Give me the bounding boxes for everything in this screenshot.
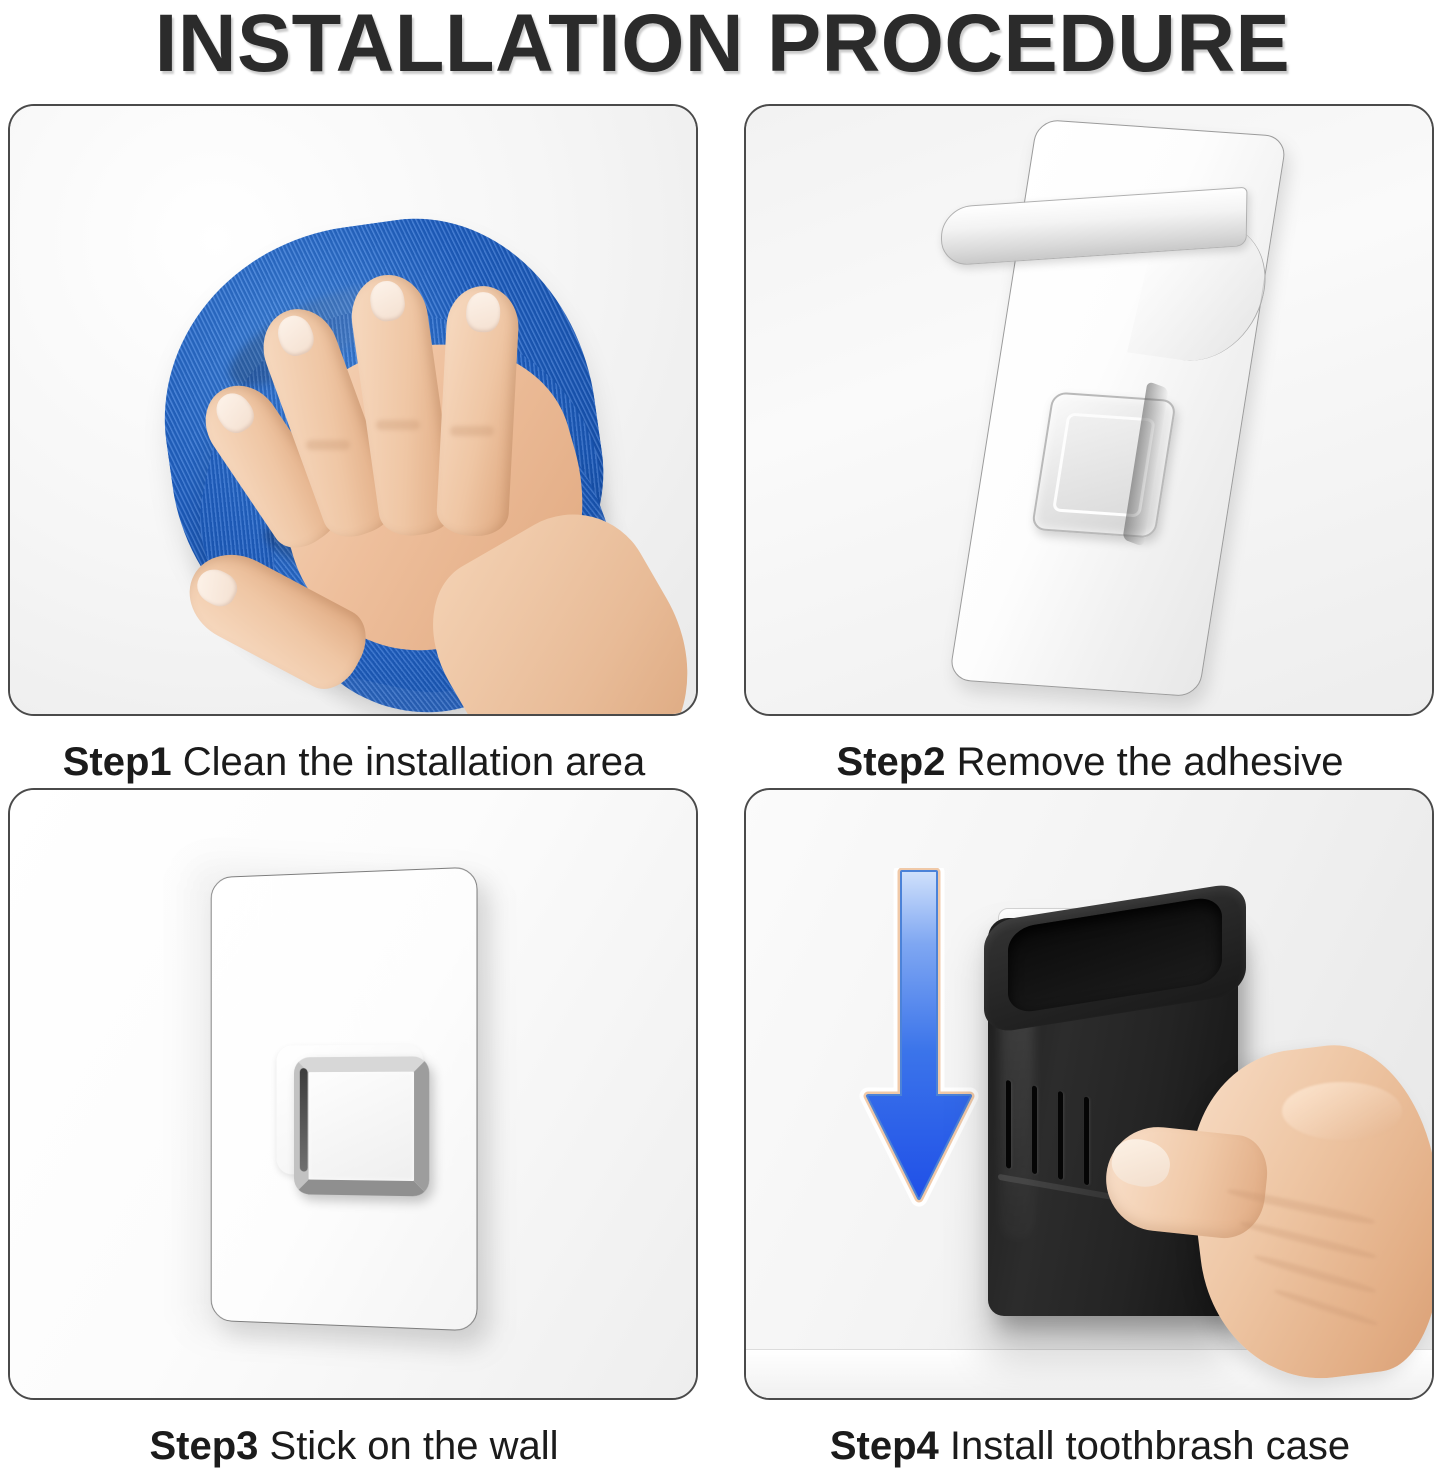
finger-knuckles [1282,1082,1402,1140]
step-2-text: Remove the adhesive [957,740,1344,784]
fingernail-ring [273,311,319,360]
step-2-caption: Step2 Remove the adhesive [744,738,1436,786]
step-3-number: Step3 [149,1424,258,1468]
step-1-panel [8,104,698,716]
fingernail-index [465,291,501,333]
fingernail-pinky [209,387,260,439]
step-4-panel [744,788,1434,1400]
step-3-text: Stick on the wall [270,1424,559,1468]
knuckle-1 [306,440,350,450]
knuckle-2 [376,420,420,430]
step-1-number: Step1 [63,740,172,784]
hand-holding-case [1076,990,1434,1390]
step-1-text: Clean the installation area [183,740,646,784]
step-cell-1: Step1 Clean the installation area [8,104,700,786]
steps-grid: Step1 Clean the installation area Step2 … [0,104,1445,1464]
finger-index [436,284,521,537]
step-2-panel [744,104,1434,716]
step-cell-3: Step3 Stick on the wall [8,788,700,1470]
chrome-square-mount-ring [294,1056,429,1196]
step-4-caption: Step4 Install toothbrash case [744,1422,1436,1470]
step-3-caption: Step3 Stick on the wall [8,1422,700,1470]
step-2-number: Step2 [837,740,946,784]
step-cell-2: Step2 Remove the adhesive [744,104,1436,786]
page-title: INSTALLATION PROCEDURE [7,0,1438,92]
fingernail-middle [368,279,407,323]
thumbnail [191,563,242,612]
step-1-caption: Step1 Clean the installation area [8,738,700,786]
drain-slot-3 [1058,1091,1063,1180]
down-arrow-icon [858,868,980,1228]
drain-slot-2 [1032,1085,1037,1174]
wall-mounted-sticker [211,867,478,1332]
step-4-number: Step4 [830,1424,939,1468]
knuckle-3 [450,426,494,436]
step-cell-4: Step4 Install toothbrash case [744,788,1436,1470]
step-3-panel [8,788,698,1400]
hand-wiping [224,226,644,716]
drain-slot-1 [1006,1080,1011,1169]
step-4-text: Install toothbrash case [950,1424,1350,1468]
